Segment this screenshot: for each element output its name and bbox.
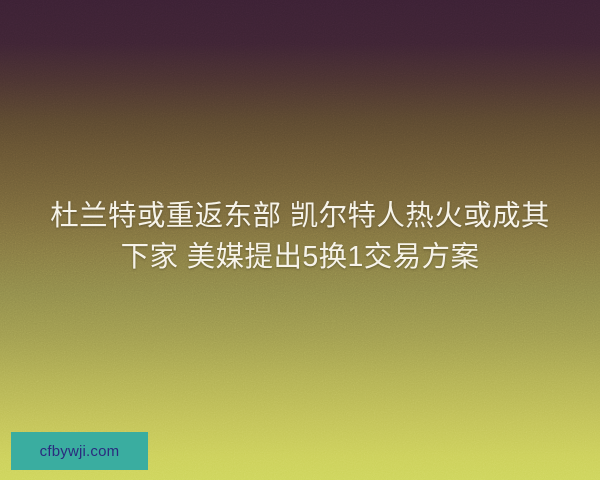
watermark-badge: cfbywji.com: [11, 432, 148, 470]
headline-text: 杜兰特或重返东部 凯尔特人热火或成其 下家 美媒提出5换1交易方案: [0, 196, 600, 278]
image-canvas: 杜兰特或重返东部 凯尔特人热火或成其 下家 美媒提出5换1交易方案 cfbywj…: [0, 0, 600, 480]
watermark-label: cfbywji.com: [40, 444, 120, 459]
